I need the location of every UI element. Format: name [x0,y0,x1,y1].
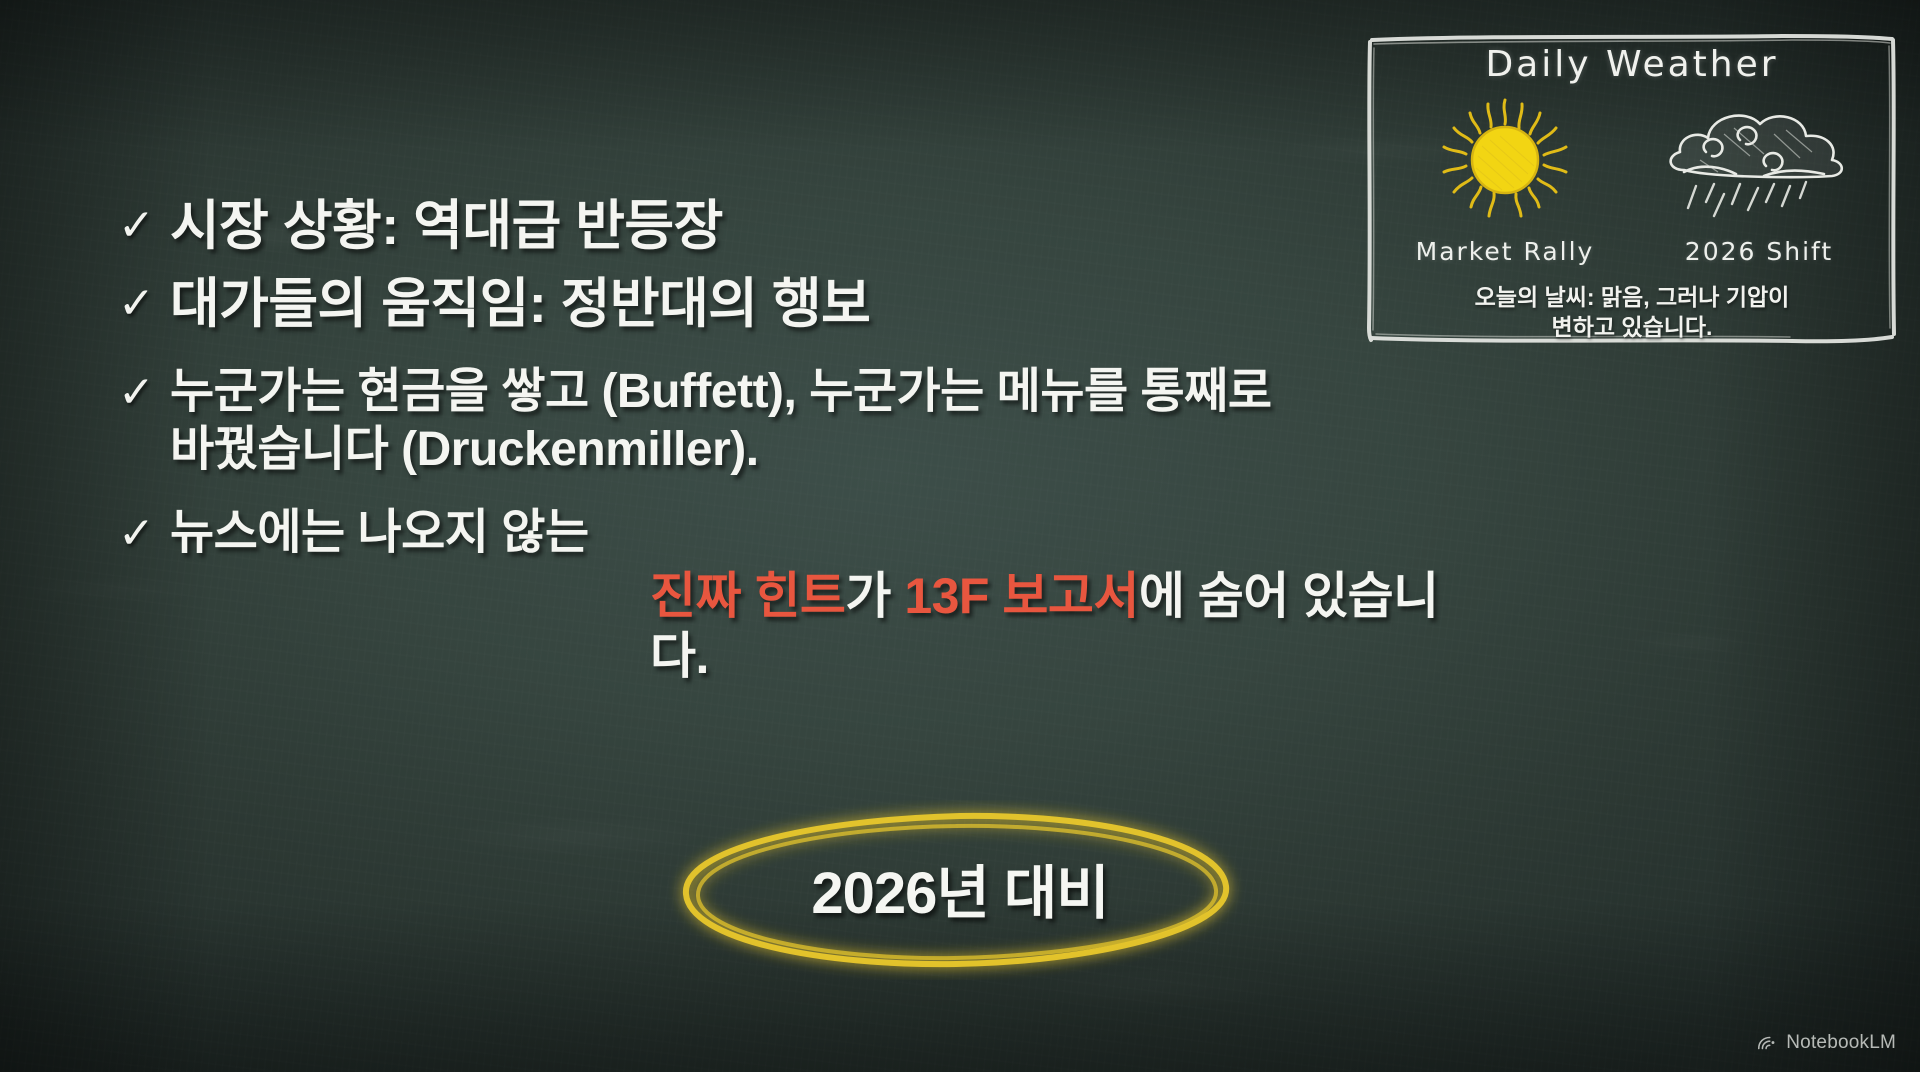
circled-label: 2026년 대비 [660,800,1260,980]
circled-callout: 2026년 대비 [660,800,1260,980]
weather-icon-sun-group: Market Rally [1385,90,1625,266]
weather-icon-label-rain: 2026 Shift [1639,237,1879,266]
check-icon: ✓ [118,196,170,248]
bullet-text-3: 누군가는 현금을 쌓고 (Buffett), 누군가는 메뉴를 통째로 바꿨습니… [170,363,1271,478]
check-icon: ✓ [118,274,170,326]
notebooklm-icon [1756,1032,1778,1054]
bullet-list: ✓ 시장 상황: 역대급 반등장 ✓ 대가들의 움직임: 정반대의 행보 ✓ 누… [118,196,1448,700]
bullet-text-4-line1: 뉴스에는 나오지 않는 [170,506,589,559]
bullet-text-2: 대가들의 움직임: 정반대의 행보 [170,274,870,336]
bullet-text-3-line2: 바꿨습니다 (Druckenmiller). [170,423,759,476]
highlight-red-1: 진짜 힌트 [650,568,845,624]
notebooklm-watermark: NotebookLM [1756,1032,1896,1054]
bullet-text-4: 뉴스에는 나오지 않는 진짜 힌트가 13F 보고서에 숨어 있습니다. [170,504,1448,686]
weather-icon-label-sun: Market Rally [1385,237,1625,266]
bullet-item-4: ✓ 뉴스에는 나오지 않는 진짜 힌트가 13F 보고서에 숨어 있습니다. [118,504,1448,686]
weather-title: Daily Weather [1362,44,1902,85]
rain-cloud-icon [1654,90,1864,230]
watermark-label: NotebookLM [1786,1032,1896,1054]
chalkboard-slide: ✓ 시장 상황: 역대급 반등장 ✓ 대가들의 움직임: 정반대의 행보 ✓ 누… [0,0,1920,1072]
daily-weather-card: Daily Weather [1362,28,1902,346]
check-icon: ✓ [118,363,170,415]
bullet-text-1: 시장 상황: 역대급 반등장 [170,196,723,258]
weather-caption: 오늘의 날씨: 맑음, 그러나 기압이 변하고 있습니다. [1384,282,1880,343]
highlight-white-1: 가 [845,568,904,624]
bullet-text-4-line2: 진짜 힌트가 13F 보고서에 숨어 있습니다. [650,566,1448,686]
weather-caption-line1: 오늘의 날씨: 맑음, 그러나 기압이 [1475,284,1790,310]
bullet-item-1: ✓ 시장 상황: 역대급 반등장 [118,196,1448,258]
weather-caption-line2: 변하고 있습니다. [1552,314,1713,340]
bullet-item-3: ✓ 누군가는 현금을 쌓고 (Buffett), 누군가는 메뉴를 통째로 바꿨… [118,363,1448,478]
weather-icon-rain-group: 2026 Shift [1639,90,1879,266]
bullet-text-3-line1: 누군가는 현금을 쌓고 (Buffett), 누군가는 메뉴를 통째로 [170,365,1271,418]
sun-icon [1410,90,1600,230]
bullet-item-2: ✓ 대가들의 움직임: 정반대의 행보 [118,274,1448,336]
highlight-red-2: 13F 보고서 [904,568,1139,624]
check-icon: ✓ [118,504,170,556]
weather-icon-row: Market Rally [1378,90,1886,250]
